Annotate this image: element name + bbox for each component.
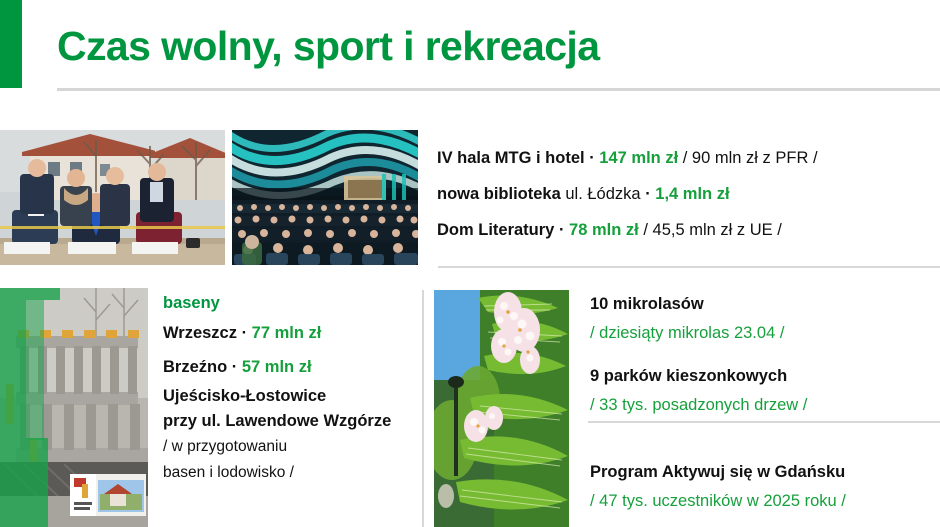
facts-bottom-list: 10 mikrolasów / dziesiąty mikrolas 23.04… bbox=[590, 290, 935, 516]
fact-label-normal: ul. Łódzka bbox=[565, 185, 640, 203]
fact-value: 1,4 mln zł bbox=[655, 185, 729, 203]
baseny-item-wrzeszcz: Wrzeszcz · 77 mln zł bbox=[163, 316, 413, 350]
slide-root: Czas wolny, sport i rekreacja bbox=[0, 0, 940, 527]
mikrolasy-count: 10 mikrolasów bbox=[590, 290, 935, 318]
title-divider bbox=[57, 88, 940, 91]
parki-note: / 33 tys. posadzonych drzew / bbox=[590, 390, 935, 420]
conference-photo-art bbox=[232, 130, 418, 265]
fact-label: Dom Literatury bbox=[437, 221, 554, 239]
page-title: Czas wolny, sport i rekreacja bbox=[57, 22, 599, 70]
baseny-ujescisko-status: / w przygotowaniu bbox=[163, 434, 413, 460]
photo-pool-construction-site bbox=[0, 288, 148, 527]
fact-label: nowa biblioteka bbox=[437, 185, 561, 203]
baseny-dot: · bbox=[242, 324, 248, 342]
photo-blooming-chestnut-tree bbox=[434, 290, 569, 527]
baseny-ujescisko-title: Ujeścisko-Łostowice bbox=[163, 384, 413, 409]
baseny-heading: baseny bbox=[163, 290, 413, 316]
construction-photo-art bbox=[0, 288, 148, 527]
fact-value: 78 mln zł bbox=[569, 221, 639, 239]
photo-contract-signing-outdoors bbox=[0, 130, 225, 265]
fact-dot: · bbox=[645, 185, 651, 203]
program-note: / 47 tys. uczestników w 2025 roku / bbox=[590, 486, 935, 516]
fact-dot: · bbox=[589, 149, 595, 167]
signing-photo-art bbox=[0, 130, 225, 265]
fact-value: 147 mln zł bbox=[599, 149, 678, 167]
baseny-label: Wrzeszcz bbox=[163, 324, 237, 342]
fact-note: / 90 mln zł z PFR / bbox=[683, 149, 818, 167]
baseny-label: Brzeźno bbox=[163, 358, 227, 376]
fact-note: / 45,5 mln zł z UE / bbox=[643, 221, 781, 239]
fact-label: IV hala MTG i hotel bbox=[437, 149, 585, 167]
facts-top-list: IV hala MTG i hotel · 147 mln zł / 90 ml… bbox=[437, 140, 937, 248]
baseny-block: baseny Wrzeszcz · 77 mln zł Brzeźno · 57… bbox=[163, 290, 413, 486]
chestnut-photo-art bbox=[434, 290, 569, 527]
accent-bar bbox=[0, 0, 22, 88]
fact-row-biblioteka: nowa biblioteka ul. Łódzka · 1,4 mln zł bbox=[437, 176, 937, 212]
divider-top-right bbox=[438, 266, 940, 268]
divider-vertical-middle bbox=[422, 290, 424, 527]
spacer-program bbox=[590, 420, 935, 458]
baseny-item-brzezno: Brzeźno · 57 mln zł bbox=[163, 350, 413, 384]
spacer bbox=[590, 348, 935, 362]
baseny-ujescisko-scope: basen i lodowisko / bbox=[163, 460, 413, 486]
mikrolasy-note: / dziesiąty mikrolas 23.04 / bbox=[590, 318, 935, 348]
baseny-value: 57 mln zł bbox=[242, 358, 312, 376]
photo-conference-hall-audience bbox=[232, 130, 418, 265]
baseny-value: 77 mln zł bbox=[252, 324, 322, 342]
baseny-dot: · bbox=[232, 358, 238, 376]
parki-count: 9 parków kieszonkowych bbox=[590, 362, 935, 390]
fact-dot: · bbox=[559, 221, 565, 239]
baseny-ujescisko-street: przy ul. Lawendowe Wzgórze bbox=[163, 409, 413, 434]
fact-row-hala-mtg: IV hala MTG i hotel · 147 mln zł / 90 ml… bbox=[437, 140, 937, 176]
program-title: Program Aktywuj się w Gdańsku bbox=[590, 458, 935, 486]
fact-row-dom-literatury: Dom Literatury · 78 mln zł / 45,5 mln zł… bbox=[437, 212, 937, 248]
